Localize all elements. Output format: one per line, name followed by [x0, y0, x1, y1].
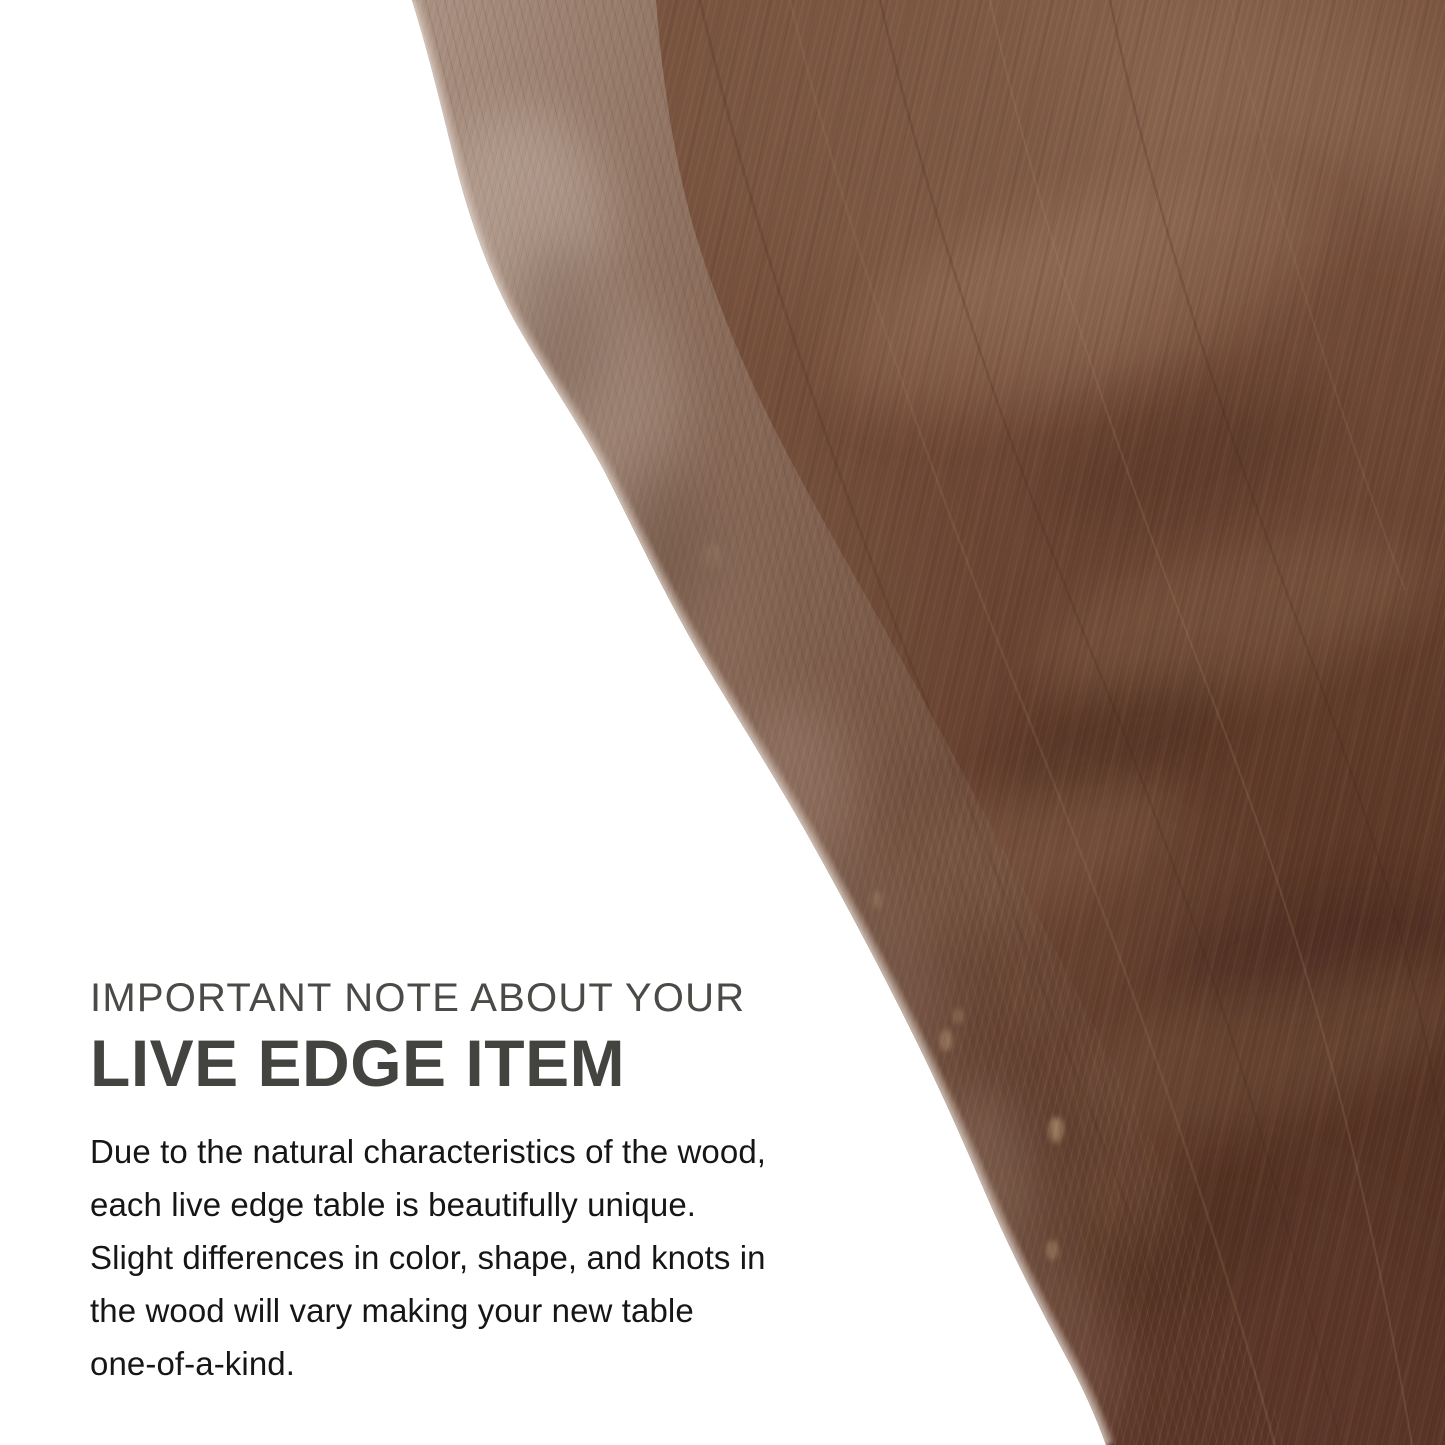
- caption-body-line: each live edge table is beautifully uniq…: [90, 1178, 830, 1231]
- caption-body-line: one-of-a-kind.: [90, 1337, 830, 1390]
- caption-eyebrow: IMPORTANT NOTE ABOUT YOUR: [90, 975, 830, 1021]
- caption-body: Due to the natural characteristics of th…: [90, 1125, 830, 1390]
- product-info-graphic: IMPORTANT NOTE ABOUT YOUR LIVE EDGE ITEM…: [0, 0, 1445, 1445]
- caption-body-line: Due to the natural characteristics of th…: [90, 1125, 830, 1178]
- caption-block: IMPORTANT NOTE ABOUT YOUR LIVE EDGE ITEM…: [90, 975, 830, 1390]
- caption-headline: LIVE EDGE ITEM: [90, 1027, 830, 1099]
- caption-body-line: the wood will vary making your new table: [90, 1284, 830, 1337]
- caption-body-line: Slight differences in color, shape, and …: [90, 1231, 830, 1284]
